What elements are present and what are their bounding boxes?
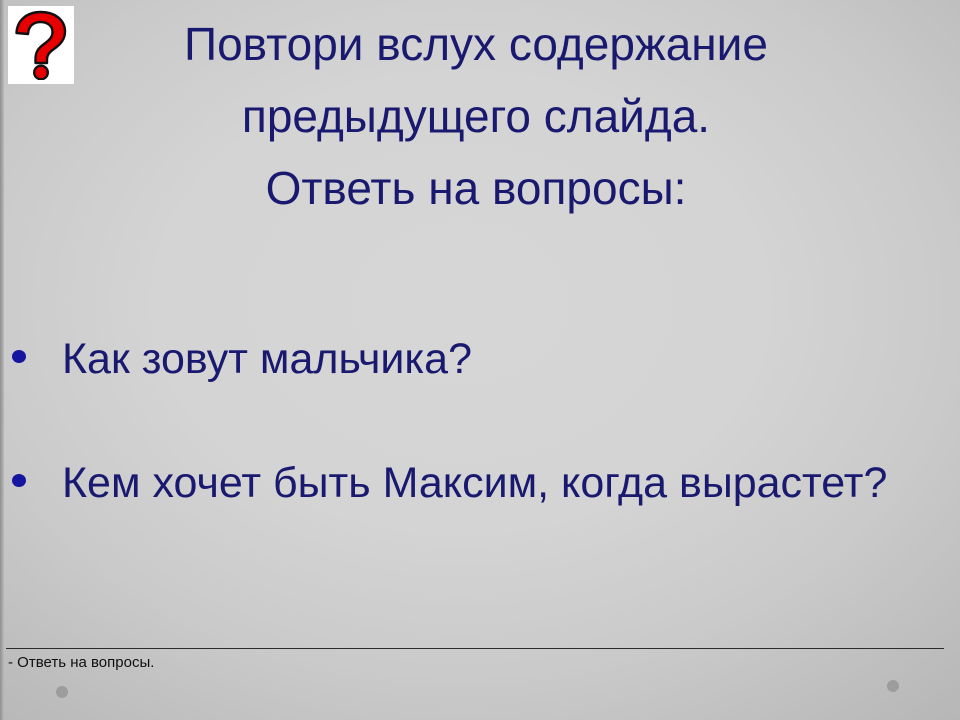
decorative-dot-left	[56, 686, 68, 698]
bullet-dot-icon	[12, 474, 26, 487]
page-title: Повтори вслух содержание предыдущего сла…	[96, 8, 856, 224]
decorative-dot-right	[887, 680, 899, 692]
slide-canvas: Повтори вслух содержание предыдущего сла…	[0, 0, 960, 720]
list-item-label: Кем хочет быть Максим, когда вырастет?	[62, 454, 930, 512]
title-line-1: Повтори вслух содержание	[96, 8, 856, 80]
title-line-2: предыдущего слайда.	[96, 80, 856, 152]
title-line-3: Ответь на вопросы:	[96, 152, 856, 224]
list-item: Кем хочет быть Максим, когда вырастет?	[0, 454, 930, 512]
footer-note: - Ответь на вопросы.	[8, 652, 154, 674]
bullet-dot-icon	[12, 350, 26, 363]
list-item: Как зовут мальчика?	[0, 330, 930, 388]
question-mark-icon	[8, 6, 74, 84]
footer-divider	[6, 648, 944, 649]
list-item-label: Как зовут мальчика?	[62, 330, 930, 388]
question-list: Как зовут мальчика? Кем хочет быть Макси…	[0, 330, 930, 578]
